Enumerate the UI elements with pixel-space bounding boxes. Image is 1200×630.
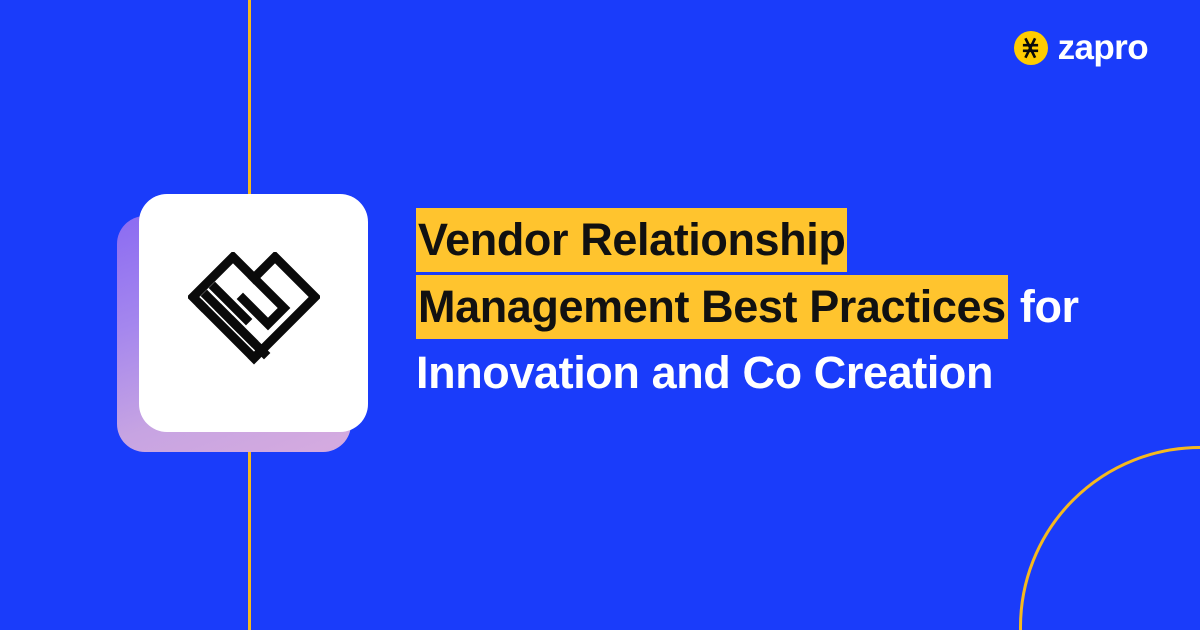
corner-arc-decoration [1019, 446, 1200, 630]
headline-line-3: Innovation and Co Creation [416, 340, 1116, 407]
blog-banner: zapro [0, 0, 1200, 630]
icon-card [117, 194, 368, 452]
headline-highlight-2: Management Best Practices [416, 275, 1008, 339]
icon-card-surface [139, 194, 368, 432]
headline-line-1: Vendor Relationship [416, 207, 1116, 274]
brand-logo[interactable]: zapro [1014, 30, 1148, 65]
headline-highlight-1: Vendor Relationship [416, 208, 847, 272]
headline-plain-2: for [1008, 281, 1079, 332]
page-title: Vendor Relationship Management Best Prac… [416, 207, 1116, 407]
brand-name: zapro [1058, 30, 1148, 65]
headline-plain-3: Innovation and Co Creation [416, 347, 993, 398]
headline-line-2: Management Best Practices for [416, 274, 1116, 341]
zapro-monogram-icon [1014, 31, 1048, 65]
handshake-icon [188, 252, 320, 374]
